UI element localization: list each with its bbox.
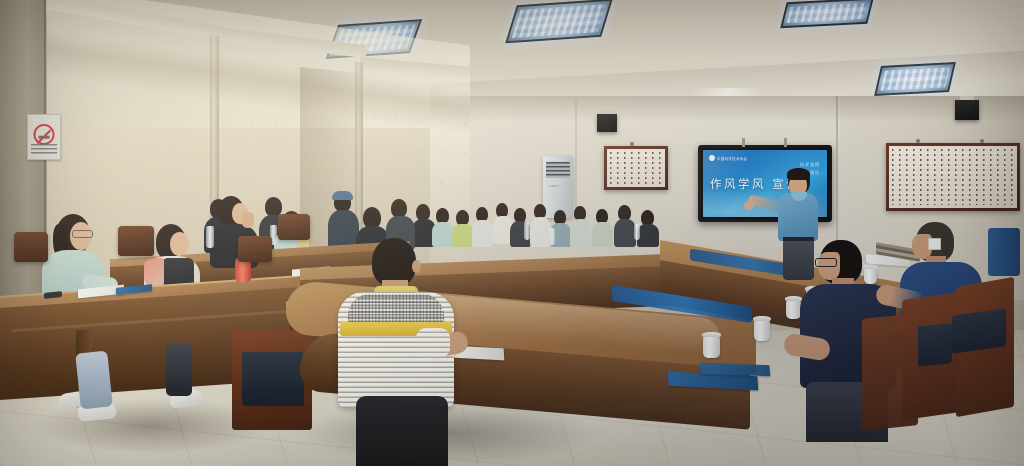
speaker-bracket	[601, 110, 613, 114]
frame-hook	[980, 139, 984, 143]
chair-cushion	[952, 308, 1006, 354]
chair[interactable]	[14, 232, 48, 262]
display-wall-mount	[784, 138, 787, 147]
chair[interactable]	[862, 313, 918, 431]
glasses-icon	[815, 258, 837, 267]
calligraphy-strokes	[610, 152, 662, 184]
water-bottle[interactable]	[206, 226, 214, 248]
floor-shadow	[300, 400, 600, 466]
calligraphy-strokes	[892, 149, 1014, 205]
attendee-sleeve	[416, 328, 450, 358]
chair[interactable]	[238, 236, 272, 262]
chair[interactable]	[278, 214, 310, 240]
attendee-torso	[570, 219, 591, 247]
presenter-hair	[787, 168, 810, 180]
tea-cup[interactable]	[754, 320, 770, 341]
water-bottle[interactable]	[549, 228, 555, 245]
attendee-head	[372, 238, 416, 286]
ceiling-light-panel	[505, 0, 613, 43]
attendee-face	[170, 232, 189, 256]
framed-calligraphy-small	[604, 146, 668, 190]
cup-lid	[753, 316, 771, 321]
no-smoking-label	[31, 144, 57, 155]
display-wall-mount	[742, 138, 745, 147]
attendee-torso	[530, 217, 551, 247]
attendee-torso	[614, 219, 636, 247]
water-bottle[interactable]	[524, 222, 530, 240]
waste-bin[interactable]	[988, 228, 1020, 276]
wall-outlet[interactable]	[928, 238, 941, 250]
attendee-hand	[242, 212, 254, 228]
attendee-torso	[637, 224, 659, 247]
wall-speaker-left	[597, 114, 617, 132]
wall-speaker-right	[955, 100, 979, 120]
attendee-cap	[332, 191, 353, 200]
attendee-ear	[412, 260, 421, 273]
attendee-sleeve-pattern	[144, 258, 164, 286]
frame-mat	[889, 146, 1017, 208]
ac-brand-label: GREE	[549, 184, 559, 188]
tea-cup[interactable]	[703, 336, 720, 358]
presenter-hand	[744, 201, 754, 210]
tea-cup[interactable]	[786, 300, 801, 319]
ceiling-light-panel	[874, 62, 956, 96]
chair[interactable]	[118, 226, 154, 256]
no-smoking-sign	[27, 114, 61, 160]
ceiling-light-panel	[780, 0, 874, 28]
speaker-bracket	[960, 96, 974, 100]
wall-top-shadow	[430, 96, 1024, 122]
trouser-leg	[166, 344, 192, 396]
ac-vent-grille	[546, 162, 570, 178]
trouser-leg	[75, 350, 113, 409]
conference-room-photo: GREE 中国科学技术协会 科学道德 学风建设 作风学风 宣讲	[0, 0, 1024, 466]
attendee-polo-shoulder-pattern	[348, 294, 444, 322]
water-bottle[interactable]	[634, 224, 640, 240]
frame-mat	[607, 149, 665, 187]
attendee-torso	[592, 222, 613, 247]
frame-hook	[630, 142, 634, 146]
cup-lid	[702, 332, 721, 337]
framed-calligraphy-large	[886, 143, 1020, 211]
frame-hook	[916, 139, 920, 143]
glasses-icon	[72, 230, 93, 238]
